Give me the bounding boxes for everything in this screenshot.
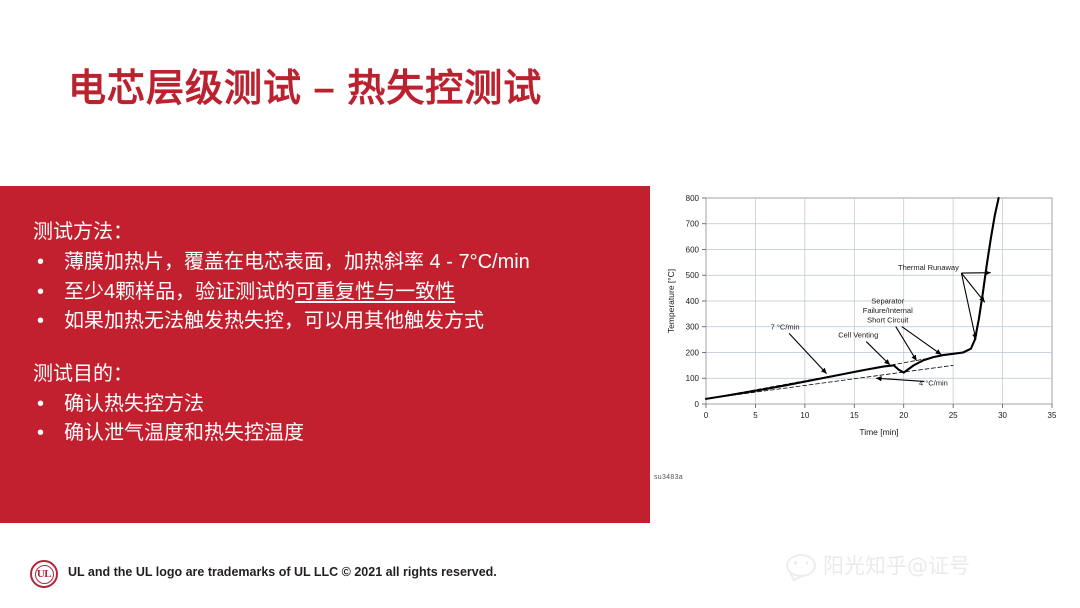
method-bullet-list: • 薄膜加热片，覆盖在电芯表面，加热斜率 4 - 7°C/min • 至少4颗样… <box>33 248 642 337</box>
watermark: 阳光知乎@证号 <box>786 550 970 580</box>
list-item-text: 确认泄气温度和热失控温度 <box>64 422 304 444</box>
svg-text:7 °C/min: 7 °C/min <box>771 322 800 331</box>
svg-text:Temperature [°C]: Temperature [°C] <box>666 269 676 333</box>
list-item-text: 确认热失控方法 <box>64 393 204 415</box>
purpose-heading: 测试目的： <box>33 361 642 388</box>
list-item-text: 薄膜加热片，覆盖在电芯表面，加热斜率 4 - 7°C/min <box>64 251 530 273</box>
svg-text:700: 700 <box>686 220 700 229</box>
svg-text:20: 20 <box>899 411 908 420</box>
svg-text:200: 200 <box>686 348 700 357</box>
watermark-text: 阳光知乎@证号 <box>823 550 970 580</box>
svg-text:35: 35 <box>1048 411 1057 420</box>
list-item: • 如果加热无法触发热失控，可以用其他触发方式 <box>33 307 642 337</box>
page-title: 电芯层级测试 – 热失控测试 <box>68 57 542 112</box>
panel-content: 测试方法： • 薄膜加热片，覆盖在电芯表面，加热斜率 4 - 7°C/min •… <box>33 219 642 449</box>
list-item-text-underlined: 可重复性与一致性 <box>295 281 455 303</box>
svg-text:5: 5 <box>753 411 758 420</box>
slide-root: 电芯层级测试 – 热失控测试 测试方法： • 薄膜加热片，覆盖在电芯表面，加热斜… <box>0 0 1080 608</box>
method-heading: 测试方法： <box>33 219 642 246</box>
svg-text:600: 600 <box>686 245 700 254</box>
svg-text:Short Circuit: Short Circuit <box>867 316 909 325</box>
chart-svg: 010020030040050060070080005101520253035T… <box>660 186 1060 458</box>
svg-text:500: 500 <box>686 271 700 280</box>
svg-text:800: 800 <box>686 194 700 203</box>
chart-caption: su3483a <box>654 474 683 481</box>
bullet-marker: • <box>37 419 44 449</box>
list-item: • 确认热失控方法 <box>33 390 642 420</box>
logo-label: UL <box>32 562 56 586</box>
svg-text:400: 400 <box>686 297 700 306</box>
svg-text:15: 15 <box>850 411 859 420</box>
bullet-marker: • <box>37 278 44 308</box>
svg-text:Time [min]: Time [min] <box>859 427 898 437</box>
svg-text:0: 0 <box>695 400 700 409</box>
svg-text:Failure/Internal: Failure/Internal <box>863 306 913 315</box>
trademark-notice: UL and the UL logo are trademarks of UL … <box>68 565 497 579</box>
svg-text:0: 0 <box>704 411 709 420</box>
svg-text:300: 300 <box>686 323 700 332</box>
content-panel: 测试方法： • 薄膜加热片，覆盖在电芯表面，加热斜率 4 - 7°C/min •… <box>0 186 650 523</box>
bullet-marker: • <box>37 248 44 278</box>
svg-text:30: 30 <box>998 411 1007 420</box>
ul-logo-icon: UL <box>30 560 58 588</box>
svg-text:Separator: Separator <box>871 297 904 306</box>
purpose-bullet-list: • 确认热失控方法 • 确认泄气温度和热失控温度 <box>33 390 642 449</box>
svg-text:Cell Venting: Cell Venting <box>838 331 878 340</box>
svg-text:4 °C/min: 4 °C/min <box>919 378 948 387</box>
bullet-marker: • <box>37 307 44 337</box>
svg-text:Thermal Runaway: Thermal Runaway <box>898 263 959 272</box>
list-item: • 确认泄气温度和热失控温度 <box>33 419 642 449</box>
list-item-text-prefix: 至少4颗样品，验证测试的 <box>64 281 295 303</box>
svg-text:25: 25 <box>949 411 958 420</box>
svg-text:10: 10 <box>800 411 809 420</box>
bullet-marker: • <box>37 390 44 420</box>
svg-text:100: 100 <box>686 374 700 383</box>
thermal-runaway-chart: 010020030040050060070080005101520253035T… <box>660 186 1060 486</box>
list-item: • 薄膜加热片，覆盖在电芯表面，加热斜率 4 - 7°C/min <box>33 248 642 278</box>
section-spacer <box>33 337 642 361</box>
list-item-text: 如果加热无法触发热失控，可以用其他触发方式 <box>64 310 484 332</box>
chat-bubble-icon <box>786 554 816 577</box>
list-item: • 至少4颗样品，验证测试的可重复性与一致性 <box>33 278 642 308</box>
